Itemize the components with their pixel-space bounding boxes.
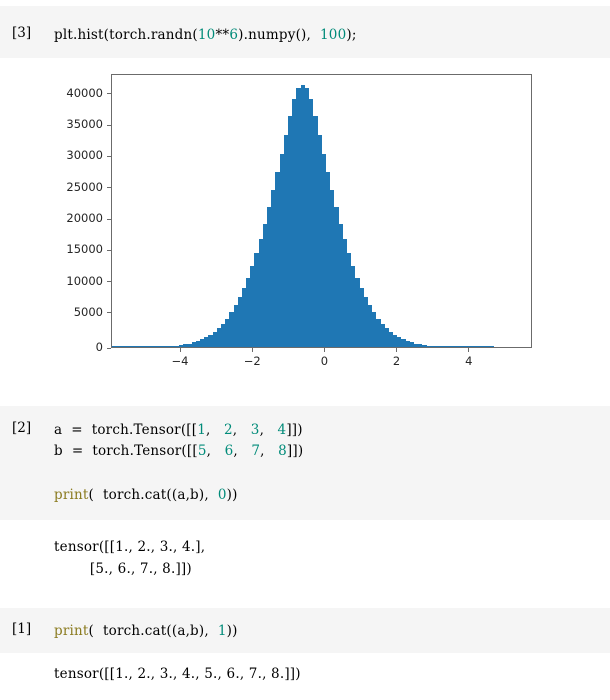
code-token-call: plt.hist(torch.randn( <box>54 27 198 43</box>
xtick-label-4: 4 <box>449 354 489 368</box>
ytick-group-1: 5000 <box>33 305 103 319</box>
cell-prompt-3: [3] <box>12 25 46 41</box>
xtick-mark-4 <box>468 348 469 352</box>
code-token-number-100: 100 <box>320 27 346 43</box>
ytick-group-4: 20000 <box>33 211 103 225</box>
code-cell-2-source-line2[interactable]: b = torch.Tensor([[5, 6, 7, 8]]) <box>54 441 303 462</box>
xtick-label-2: 0 <box>304 354 344 368</box>
code-cell-2-input[interactable]: [2] a = torch.Tensor([[1, 2, 3, 4]]) b =… <box>0 406 610 520</box>
code-token-operator-pow: ** <box>215 27 229 43</box>
code-token-num-7: 7 <box>251 443 260 459</box>
code-token-sep-4: , <box>207 443 225 459</box>
code-token-num-3: 3 <box>251 422 260 438</box>
code-cell-2-source[interactable]: a = torch.Tensor([[1, 2, 3, 4]]) <box>54 420 303 441</box>
cell-prompt-2: [2] <box>12 420 46 436</box>
xtick-mark-0 <box>180 348 181 352</box>
code-token-tail: ); <box>346 27 356 43</box>
output-line-3: tensor([[1., 2., 3., 4., 5., 6., 7., 8.]… <box>54 663 301 685</box>
code-token-a-assign: a = torch.Tensor([[ <box>54 422 197 438</box>
code-token-num-8: 8 <box>278 443 287 459</box>
ytick-group-0: 0 <box>33 340 103 354</box>
xtick-mark-2 <box>324 348 325 352</box>
code-token-number-10: 10 <box>198 27 216 43</box>
code-cell-2-source-line4[interactable]: print( torch.cat((a,b), 0)) <box>54 485 238 506</box>
ytick-group-8: 40000 <box>33 86 103 100</box>
ytick-group-6: 30000 <box>33 148 103 162</box>
ytick-group-7: 35000 <box>33 117 103 131</box>
code-token-cat-call: ( torch.cat((a,b), <box>89 487 218 503</box>
chart-axes <box>111 74 532 348</box>
output-line-1: tensor([[1., 2., 3., 4.], <box>54 536 205 558</box>
ytick-group-5: 25000 <box>33 180 103 194</box>
code-token-dim-1: 1 <box>218 623 227 639</box>
code-cell-3-output-figure: 0 5000 10000 15000 20000 25000 30000 350… <box>0 58 610 388</box>
ytick-label-0: 0 <box>35 340 103 354</box>
xtick-label-1: −2 <box>232 354 272 368</box>
code-token-sep-6: , <box>260 443 278 459</box>
xtick-label-0: −4 <box>160 354 200 368</box>
output-line-2: [5., 6., 7., 8.]]) <box>54 558 192 580</box>
code-token-sep-5: , <box>233 443 251 459</box>
code-cell-3-source[interactable]: plt.hist(torch.randn(10**6).numpy(), 100… <box>54 25 357 46</box>
code-token-sep-2: , <box>233 422 251 438</box>
ytick-label-6: 30000 <box>35 148 103 162</box>
code-token-number-6: 6 <box>229 27 238 43</box>
ytick-label-3: 15000 <box>35 242 103 256</box>
code-token-numpy: ).numpy(), <box>238 27 320 43</box>
xtick-label-3: 2 <box>377 354 417 368</box>
ytick-group-3: 15000 <box>33 242 103 256</box>
code-cell-3-input[interactable]: [3] plt.hist(torch.randn(10**6).numpy(),… <box>0 6 610 58</box>
ytick-label-7: 35000 <box>35 117 103 131</box>
ytick-label-8: 40000 <box>35 86 103 100</box>
code-cell-2-output: tensor([[1., 2., 3., 4.], [5., 6., 7., 8… <box>0 520 610 590</box>
histogram-bar <box>489 346 494 347</box>
cell-prompt-1: [1] <box>12 621 46 637</box>
xtick-mark-1 <box>252 348 253 352</box>
ytick-group-2: 10000 <box>33 274 103 288</box>
code-token-print-2: print <box>54 623 89 639</box>
code-token-b-assign: b = torch.Tensor([[ <box>54 443 198 459</box>
code-token-num-1: 1 <box>197 422 206 438</box>
code-token-num-2: 2 <box>224 422 233 438</box>
code-cell-1-source[interactable]: print( torch.cat((a,b), 1)) <box>54 621 238 642</box>
code-token-close-2: )) <box>227 487 238 503</box>
code-cell-1-input[interactable]: [1] print( torch.cat((a,b), 1)) <box>0 608 610 653</box>
histogram-bars <box>112 75 531 347</box>
code-token-cat-call-2: ( torch.cat((a,b), <box>89 623 218 639</box>
code-token-dim-0: 0 <box>218 487 227 503</box>
ytick-label-2: 10000 <box>35 274 103 288</box>
ytick-label-5: 25000 <box>35 180 103 194</box>
ytick-label-1: 5000 <box>35 305 103 319</box>
code-token-print: print <box>54 487 89 503</box>
xtick-mark-3 <box>396 348 397 352</box>
jupyter-notebook: [3] plt.hist(torch.randn(10**6).numpy(),… <box>0 0 610 700</box>
code-token-close-3: )) <box>227 623 238 639</box>
code-token-sep-1: , <box>206 422 224 438</box>
code-token-sep-3: , <box>260 422 278 438</box>
code-token-num-4: 4 <box>278 422 287 438</box>
code-token-b-end: ]]) <box>287 443 303 459</box>
ytick-label-4: 20000 <box>35 211 103 225</box>
code-cell-1-output: tensor([[1., 2., 3., 4., 5., 6., 7., 8.]… <box>0 653 610 700</box>
code-token-num-5: 5 <box>198 443 207 459</box>
code-token-a-end: ]]) <box>286 422 302 438</box>
